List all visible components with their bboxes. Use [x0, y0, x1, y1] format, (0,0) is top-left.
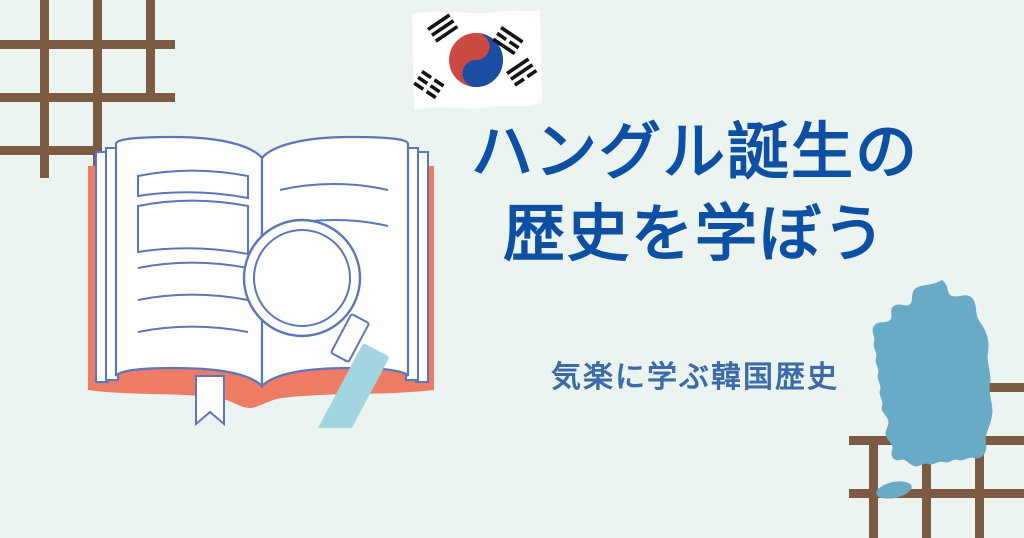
open-book-illustration: [82, 128, 442, 428]
title-line-1: ハングル誕生の: [430, 112, 960, 194]
title-line-2: 歴史を学ぼう: [430, 194, 960, 276]
magnifier-lens: [244, 220, 360, 336]
map-jeju-island: [875, 478, 914, 501]
south-korea-map-icon: [846, 276, 1024, 526]
south-korea-flag-illustration: [398, 6, 550, 116]
page-title: ハングル誕生の 歴史を学ぼう: [430, 112, 960, 277]
south-korea-flag-icon: [398, 6, 550, 116]
banner-canvas: ハングル誕生の 歴史を学ぼう 気楽に学ぶ韓国歴史: [0, 0, 1024, 538]
south-korea-map-illustration: [846, 276, 1024, 526]
open-book-icon: [82, 128, 442, 428]
page-subtitle: 気楽に学ぶ韓国歴史: [430, 352, 960, 396]
bookmark-ribbon: [196, 376, 224, 424]
